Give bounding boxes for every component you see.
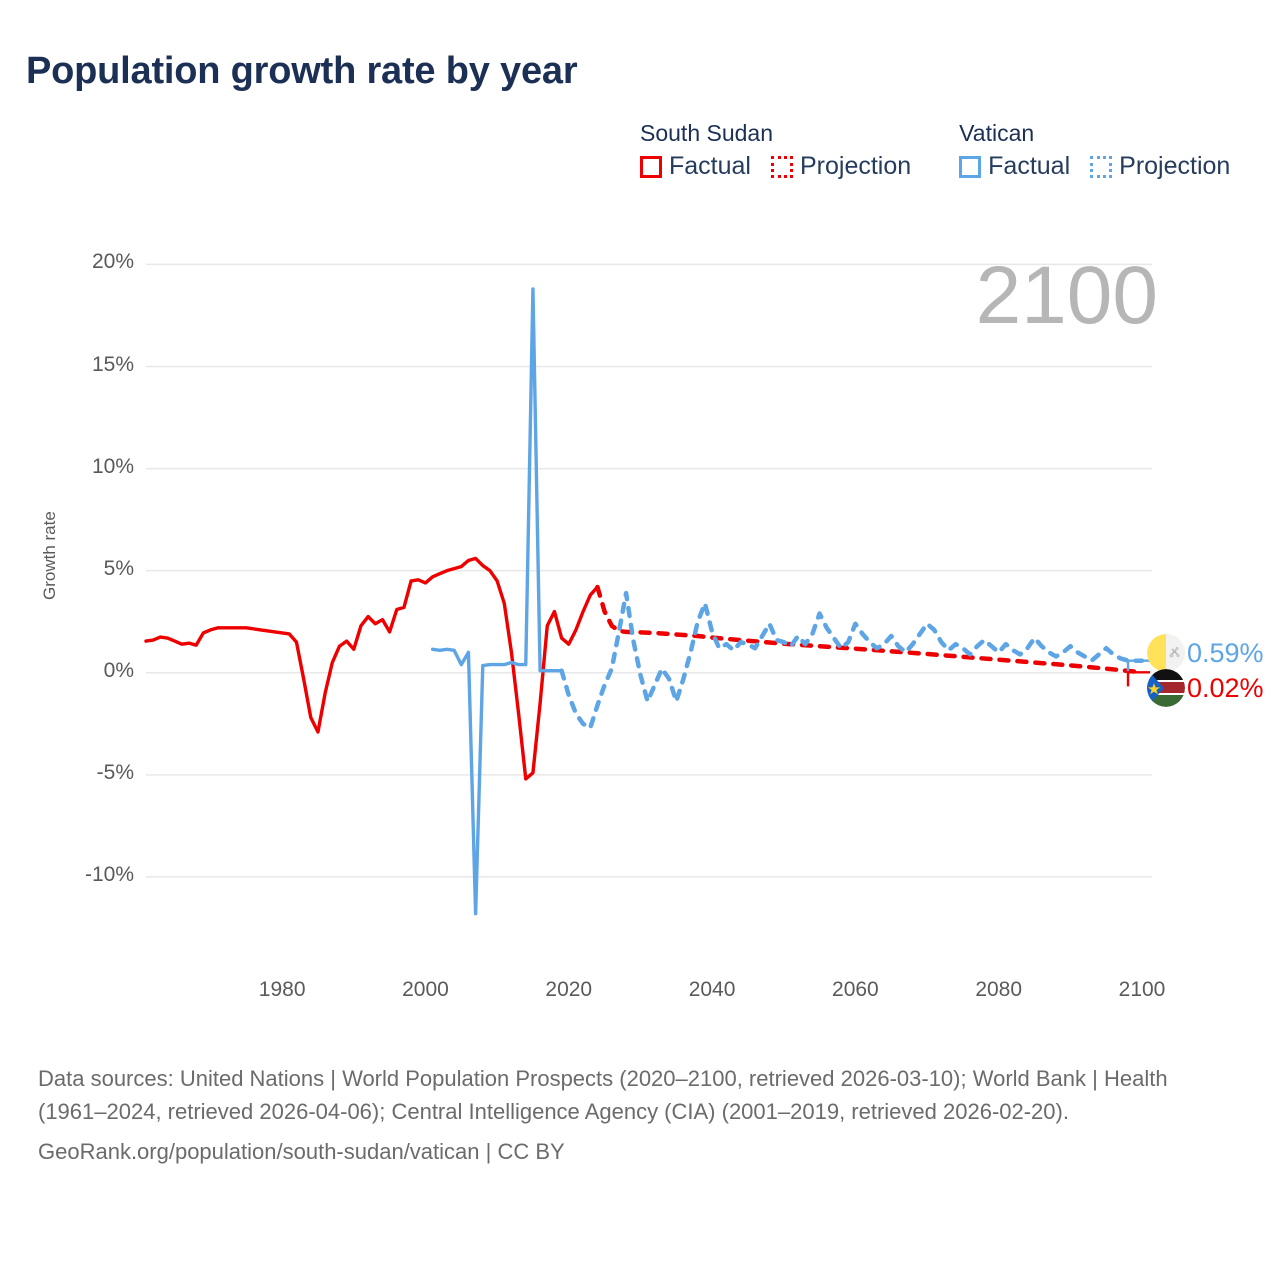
y-tick-label: 10%: [92, 455, 134, 479]
year-watermark: 2100: [976, 255, 1158, 337]
series-line-vatican-projection: [562, 593, 1142, 728]
y-tick-label: 20%: [92, 250, 134, 274]
x-tick-label: 2000: [402, 978, 449, 1002]
y-tick-label: 5%: [104, 557, 134, 581]
x-tick-label: 2080: [975, 978, 1022, 1002]
footer-attribution[interactable]: GeoRank.org/population/south-sudan/vatic…: [38, 1135, 1238, 1168]
x-tick-label: 2020: [545, 978, 592, 1002]
x-tick-label: 2100: [1119, 978, 1166, 1002]
end-label-vatican-value: 0.59%: [1187, 640, 1264, 667]
x-tick-label: 2040: [689, 978, 736, 1002]
y-tick-label: 0%: [104, 659, 134, 683]
y-tick-label: -5%: [97, 761, 134, 785]
series-line-vatican-factual: [433, 289, 562, 914]
vatican-flag-icon: [1147, 634, 1185, 672]
y-tick-label: -10%: [85, 863, 134, 887]
south-sudan-flag-icon: [1147, 669, 1185, 707]
chart-root: Population growth rate by year South Sud…: [0, 0, 1280, 1280]
end-label-vatican: 0.59%: [1147, 634, 1264, 672]
x-tick-label: 2060: [832, 978, 879, 1002]
footer-sources: Data sources: United Nations | World Pop…: [38, 1062, 1238, 1128]
y-tick-label: 15%: [92, 353, 134, 377]
series-line-south-sudan-factual: [146, 558, 597, 779]
end-label-south-sudan: 0.02%: [1147, 669, 1264, 707]
footer: Data sources: United Nations | World Pop…: [38, 1062, 1238, 1168]
series-line-south-sudan-projection: [597, 587, 1142, 672]
x-tick-label: 1980: [259, 978, 306, 1002]
end-label-south-sudan-value: 0.02%: [1187, 675, 1264, 702]
